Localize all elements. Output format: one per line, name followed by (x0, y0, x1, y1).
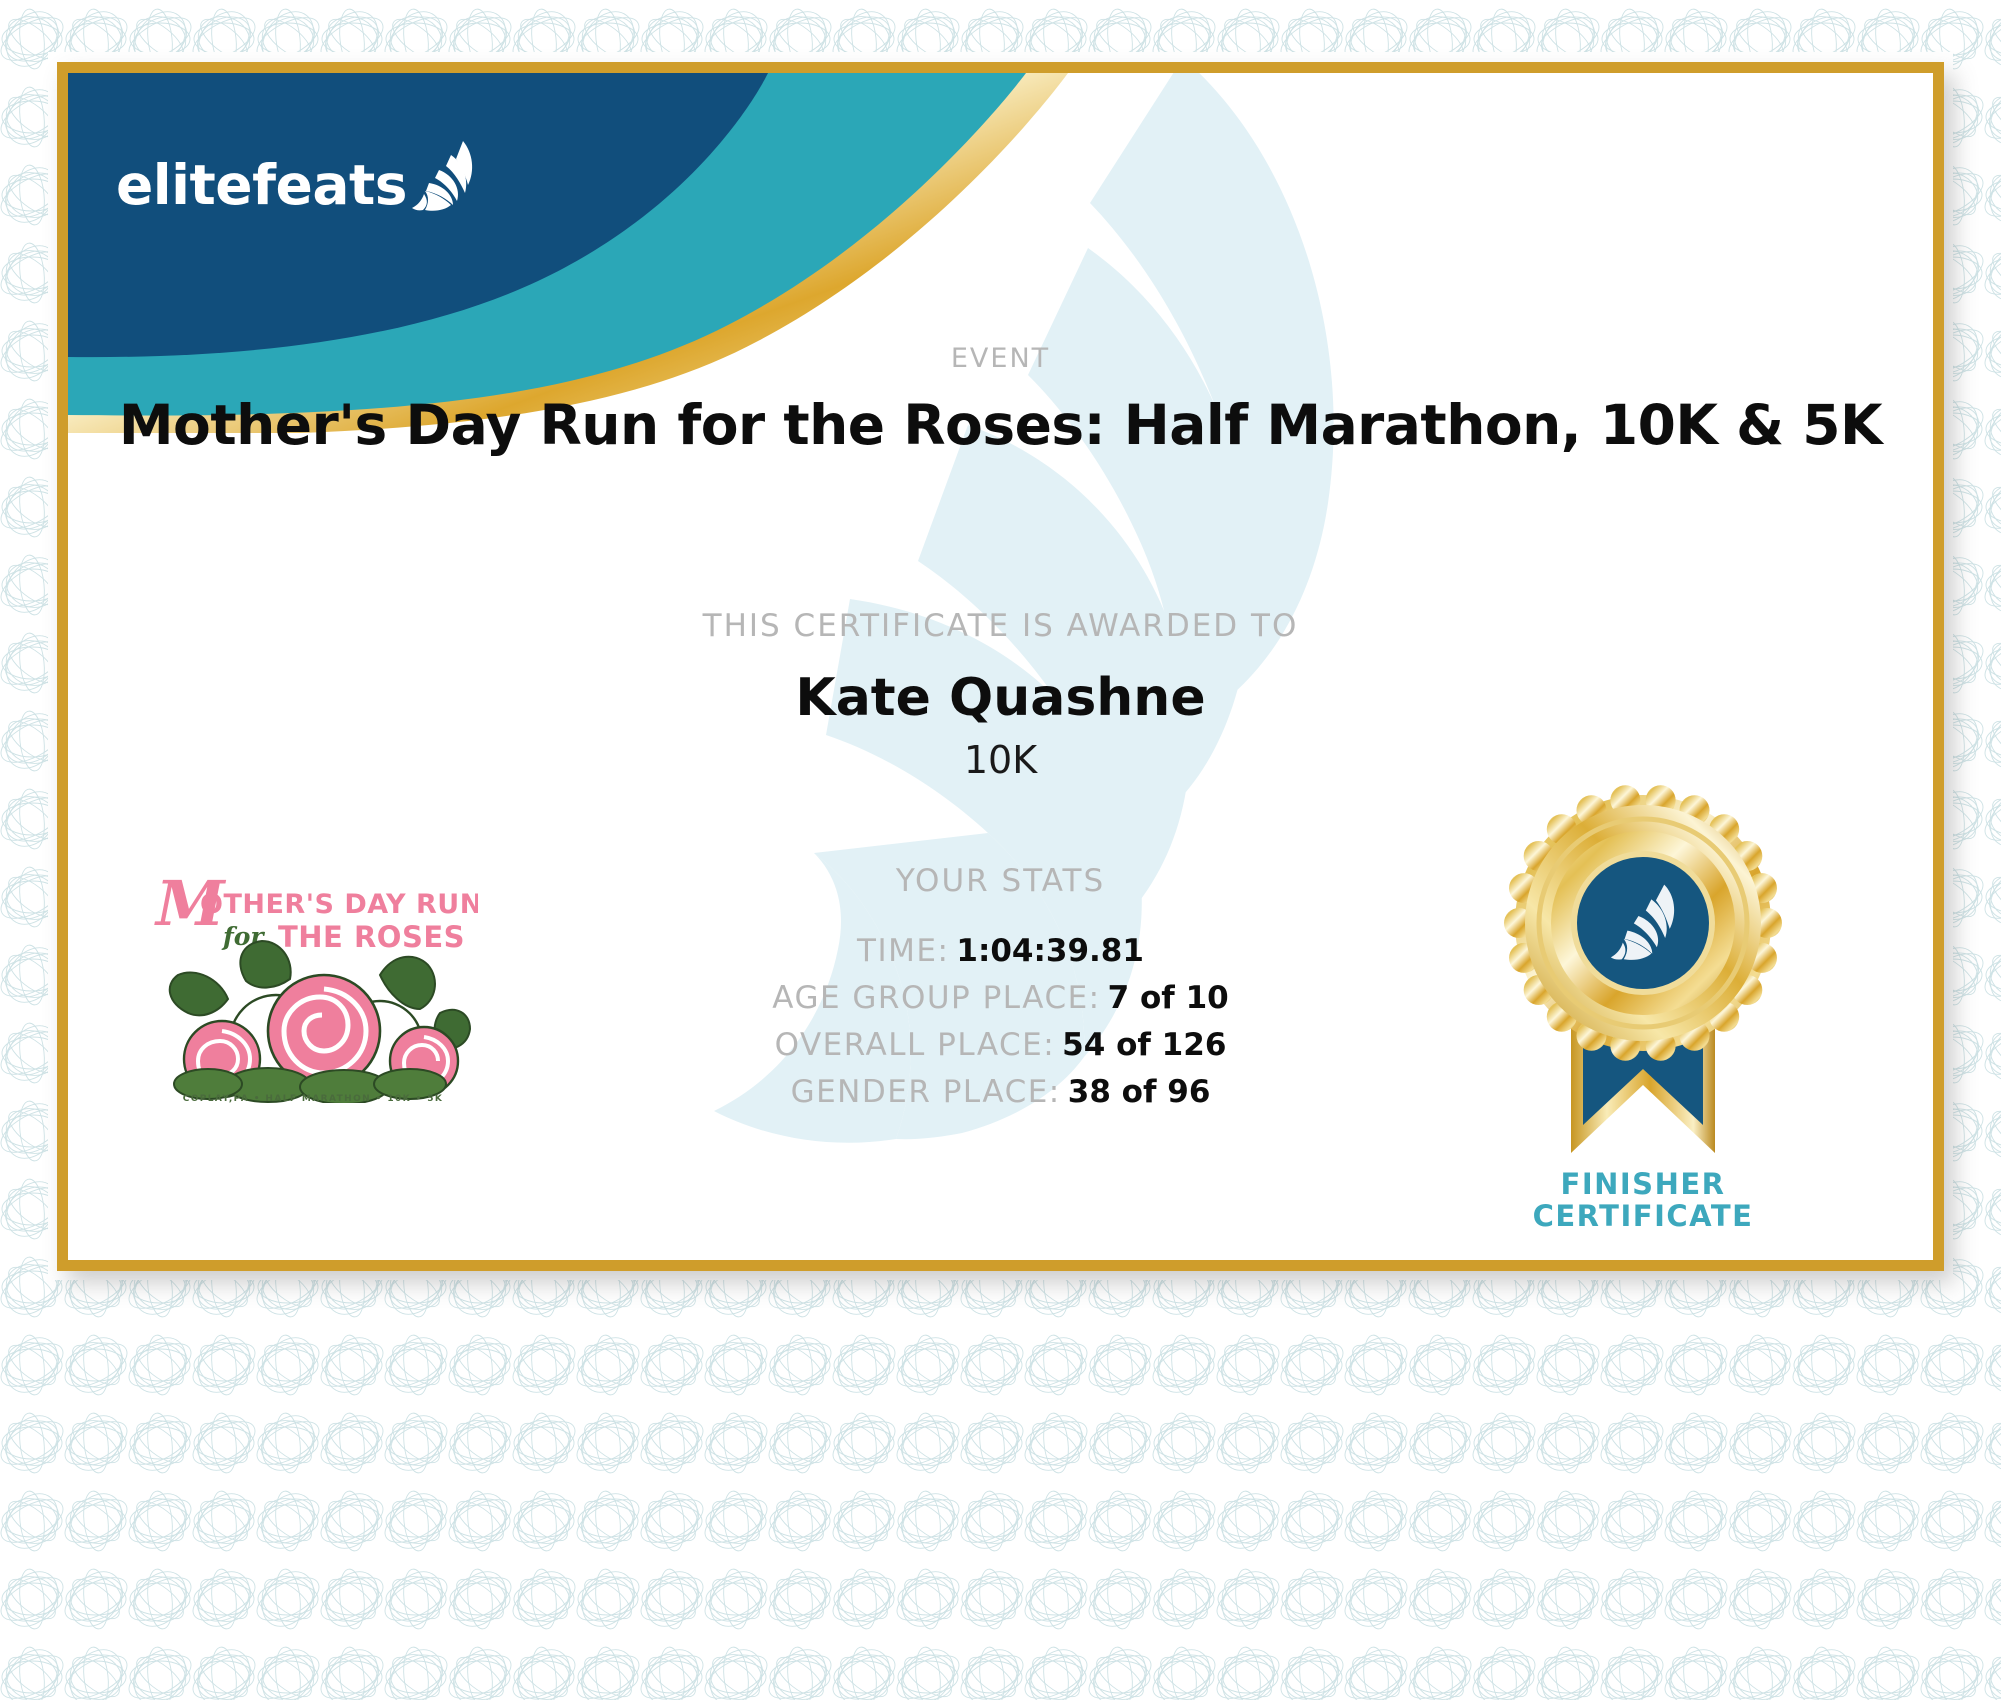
finisher-certificate-caption: FINISHER CERTIFICATE (1458, 1168, 1828, 1233)
stat-value: 7 of 10 (1108, 980, 1229, 1016)
race-event-logo: M OTHER'S DAY RUN for THE ROSES (148, 863, 478, 1103)
certificate-frame: elitefeats EVENT Mother's Day Run for th… (57, 62, 1944, 1271)
recipient-name: Kate Quashne (68, 668, 1933, 728)
event-label: EVENT (68, 343, 1933, 374)
stat-value: 38 of 96 (1068, 1074, 1211, 1110)
stat-value: 54 of 126 (1062, 1027, 1226, 1063)
certificate-page: elitefeats EVENT Mother's Day Run for th… (0, 0, 2001, 1700)
certificate-card: elitefeats EVENT Mother's Day Run for th… (68, 73, 1933, 1260)
svg-text:THE ROSES: THE ROSES (278, 920, 465, 954)
awarded-to-label: THIS CERTIFICATE IS AWARDED TO (68, 608, 1933, 644)
finisher-line-1: FINISHER (1458, 1168, 1828, 1200)
stat-key: AGE GROUP PLACE: (772, 980, 1100, 1016)
finisher-medal-badge: 2025 (1493, 773, 1793, 1193)
svg-text:COPLAY,PA • HALF MARATHON •: COPLAY,PA • HALF MARATHON • 10K • 5K (183, 1094, 444, 1103)
stat-key: OVERALL PLACE: (775, 1027, 1056, 1063)
stat-key: TIME: (857, 933, 949, 969)
svg-text:OTHER'S DAY RUN: OTHER'S DAY RUN (200, 889, 478, 920)
event-title: Mother's Day Run for the Roses: Half Mar… (68, 393, 1933, 457)
stat-key: GENDER PLACE: (791, 1074, 1061, 1110)
stat-value: 1:04:39.81 (956, 933, 1144, 969)
finisher-line-2: CERTIFICATE (1458, 1200, 1828, 1232)
